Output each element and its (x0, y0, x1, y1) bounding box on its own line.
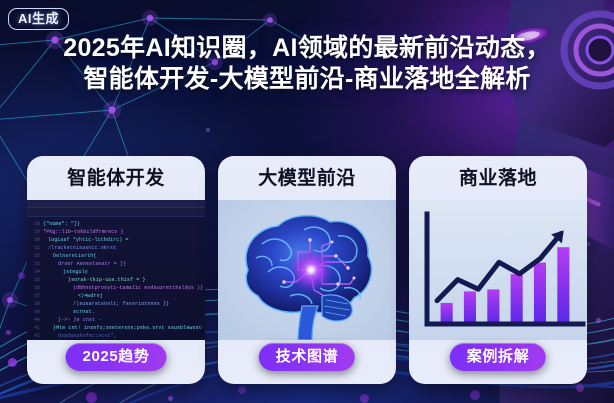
growth-chart-art (409, 200, 587, 340)
code-line-number: 42 (27, 332, 43, 340)
code-line-text: }sorak-tkip-uas.thisf = } (43, 276, 146, 284)
code-line-number: 36 (27, 284, 43, 292)
card-agent-development[interactable]: 智能体开发 28{"name": "}}29*Pkg::lib—tokbildf… (27, 156, 205, 384)
code-line-number: 35 (27, 276, 43, 284)
code-line-text: dspdaopkofec;ncst", (43, 332, 117, 340)
code-line-number: 37 (27, 292, 43, 300)
code-line-text: (dbhnotprosyti—tamalic evdsuzretthsldys … (43, 284, 203, 292)
code-line-text: *Pkg::lib—tokbildfrmrecv } (43, 228, 124, 236)
poster-canvas: AI生成 2025年AI知识圈，AI领域的最新前沿动态， 智能体开发-大模型前沿… (0, 0, 614, 403)
code-line-text: }->~ }e cnst - (43, 316, 101, 324)
code-editor-art: 28{"name": "}}29*Pkg::lib—tokbildfrmrecv… (27, 200, 205, 340)
code-line: 42dspdaopkofec;ncst", (27, 332, 203, 340)
code-line-number: 38 (27, 300, 43, 308)
code-line-number: 40 (27, 316, 43, 324)
card-business-landing[interactable]: 商业落地 (409, 156, 587, 384)
brain-icon (218, 200, 396, 340)
code-line-number: 33 (27, 260, 43, 268)
code-line-text: Delnsrntisrth{ (43, 252, 96, 260)
code-line: 28{"name": "}} (27, 220, 203, 228)
code-line: 33drser Aenestseatr = }} (27, 260, 203, 268)
code-line: 34jsteguly (27, 268, 203, 276)
code-line: 40}->~ }e cnst - (27, 316, 203, 324)
ai-generated-badge: AI生成 (8, 8, 69, 30)
page-title: 2025年AI知识圈，AI领域的最新前沿动态， 智能体开发-大模型前沿-商业落地… (0, 33, 614, 95)
code-line: 39scrnst. (27, 308, 203, 316)
chart-bar (534, 263, 546, 324)
code-line-number: 34 (27, 268, 43, 276)
card-large-model-frontier[interactable]: 大模型前沿 (218, 156, 396, 384)
card-badge[interactable]: 技术图谱 (259, 343, 355, 371)
growth-bar-chart (409, 200, 587, 340)
code-line: 35}sorak-tkip-uas.thisf = } (27, 276, 203, 284)
code-line-text: /lracketnisasnic.okrst (43, 244, 116, 252)
code-line-number: 28 (27, 220, 43, 228)
card-title: 商业落地 (459, 169, 537, 188)
code-line: 36(dbhnotprosyti—tamalic evdsuzretthsldy… (27, 284, 203, 292)
card-badge[interactable]: 案例拆解 (450, 343, 546, 371)
code-line-text: drser Aenestseatr = }} (43, 260, 126, 268)
title-line-1: 2025年AI知识圈，AI领域的最新前沿动态， (14, 33, 600, 64)
card-row: 智能体开发 28{"name": "}}29*Pkg::lib—tokbildf… (0, 156, 614, 384)
code-line: 37<)4wdrvj (27, 292, 203, 300)
chart-bar (441, 303, 453, 324)
code-line-text: }Mte cnt! insnfo;snetersns;pske.srvt ssu… (43, 324, 203, 332)
chart-bar (511, 274, 523, 324)
code-line: 29*Pkg::lib—tokbildfrmrecv } (27, 228, 203, 236)
chart-bar (487, 289, 499, 324)
code-line-text: scrnst. (43, 308, 95, 316)
code-line-number: 39 (27, 308, 43, 316)
card-badge[interactable]: 2025趋势 (66, 343, 167, 371)
code-line-text: logiasf *yhtic-lcthdirc) = (43, 236, 129, 244)
code-line-number: 32 (27, 252, 43, 260)
code-line-text: {"name": "}} (43, 220, 80, 228)
brain-art (218, 200, 396, 340)
code-line-number: 41 (27, 324, 43, 332)
chart-bar (557, 247, 569, 324)
title-line-2: 智能体开发-大模型前沿-商业落地全解析 (14, 64, 600, 95)
code-line: 32Delnsrntisrth{ (27, 252, 203, 260)
code-line-number: 30 (27, 236, 43, 244)
code-line: 38/)susarstsnslt; fsvsriotnnns }} (27, 300, 203, 308)
chart-bar (464, 291, 476, 324)
code-line-text: jsteguly (43, 268, 88, 276)
code-line-number: 31 (27, 244, 43, 252)
card-title: 大模型前沿 (258, 169, 356, 188)
code-line-text: /)susarstsnslt; fsvsriotnnns }} (43, 300, 169, 308)
code-line: 31/lracketnisasnic.okrst (27, 244, 203, 252)
code-line-text: <)4wdrvj (43, 292, 103, 300)
code-line-number: 29 (27, 228, 43, 236)
code-line: 41}Mte cnt! insnfo;snetersns;pske.srvt s… (27, 324, 203, 332)
code-line: 30logiasf *yhtic-lcthdirc) = (27, 236, 203, 244)
card-title: 智能体开发 (67, 169, 165, 188)
